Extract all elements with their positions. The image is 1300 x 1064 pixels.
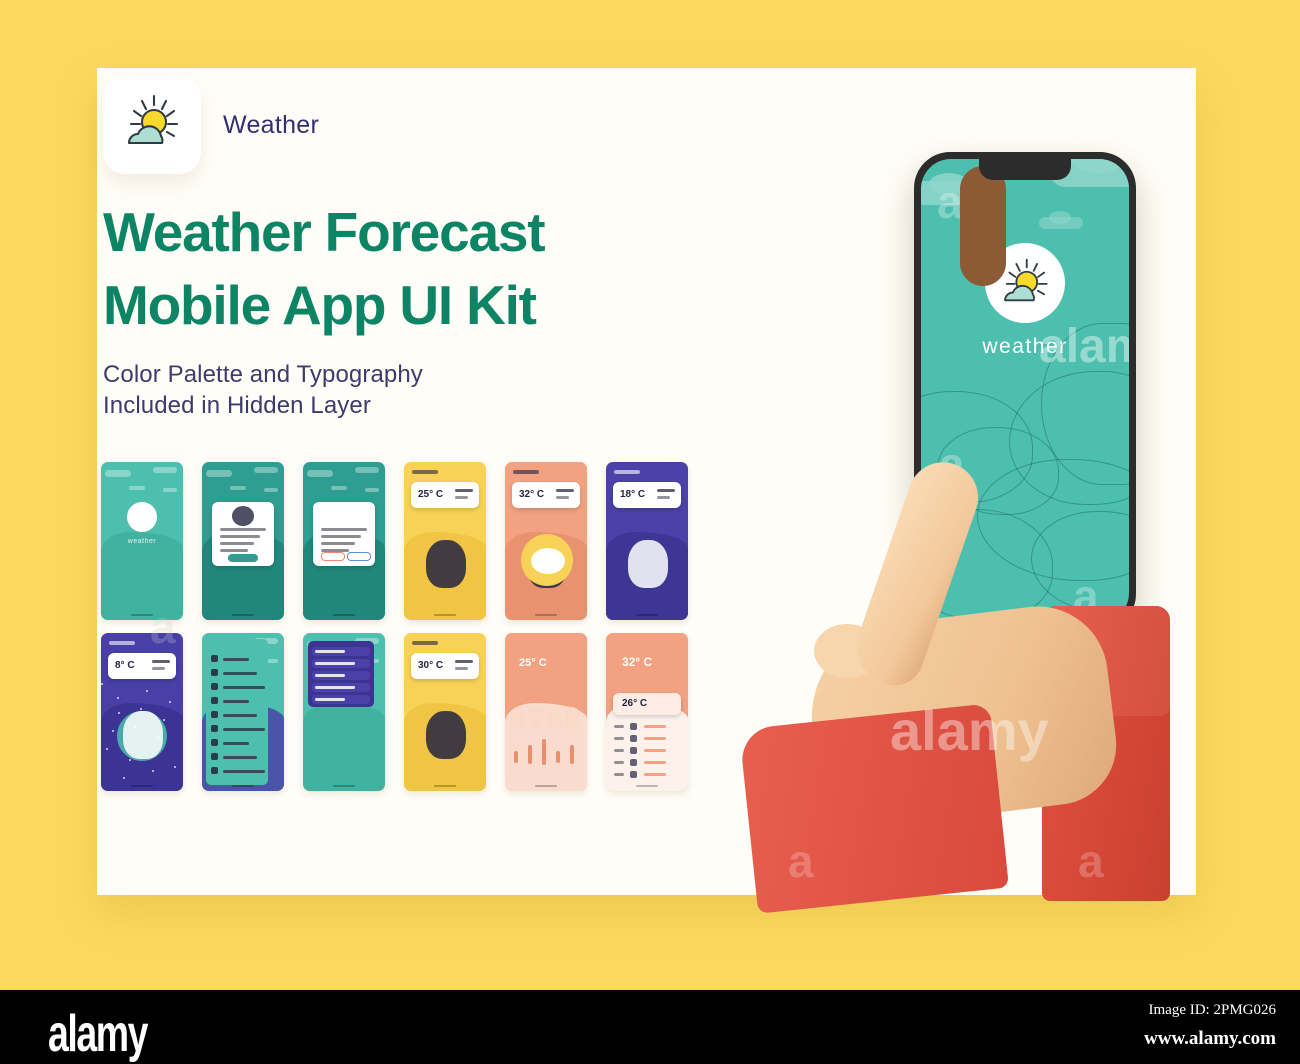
detail-line bbox=[455, 660, 473, 663]
screen-thumbnail-snow-day[interactable]: 8° C bbox=[101, 633, 183, 791]
phone-hand-mockup: weather a a alamy a ala bbox=[742, 128, 1202, 898]
list-label bbox=[223, 672, 257, 675]
day-temp-bar bbox=[644, 761, 666, 764]
home-indicator bbox=[131, 614, 153, 616]
temperature-value: 32° C bbox=[519, 489, 544, 500]
temperature-card: 18° C bbox=[613, 482, 681, 508]
day-weather-icon bbox=[630, 759, 637, 766]
screen-header bbox=[513, 470, 539, 474]
home-indicator bbox=[535, 785, 557, 787]
home-indicator bbox=[434, 785, 456, 787]
snowflake bbox=[129, 759, 131, 761]
back-finger bbox=[960, 166, 1006, 286]
list-icon bbox=[211, 753, 218, 760]
home-indicator bbox=[333, 785, 355, 787]
screen-thumbnail-search-city[interactable] bbox=[303, 633, 385, 791]
screen-thumbnail-rainy-night[interactable]: 18° C bbox=[606, 462, 688, 620]
cloud-decoration bbox=[307, 470, 333, 477]
day-weather-icon bbox=[630, 723, 637, 730]
hourly-cell bbox=[529, 707, 543, 729]
onboarding-card bbox=[212, 502, 274, 566]
day-weather-icon bbox=[630, 771, 637, 778]
day-temp-bar bbox=[644, 773, 666, 776]
cloud-decoration bbox=[105, 470, 131, 477]
detail-line bbox=[455, 489, 473, 492]
animal-illustration-rabbit bbox=[426, 540, 466, 588]
headline-line-2: Mobile App UI Kit bbox=[103, 269, 743, 342]
detail-line bbox=[455, 496, 468, 499]
snowflake bbox=[106, 748, 108, 750]
search-result-label bbox=[315, 650, 345, 653]
cloud-decoration bbox=[365, 488, 379, 492]
temperature-card: 25° C bbox=[411, 482, 479, 508]
page-subtitle: Color Palette and Typography Included in… bbox=[103, 360, 623, 422]
snowflake bbox=[101, 683, 103, 685]
search-result-label bbox=[315, 674, 345, 677]
app-logo-tile bbox=[103, 76, 201, 174]
chart-bar bbox=[528, 745, 532, 764]
splash-logo-circle bbox=[127, 502, 157, 532]
detail-line bbox=[556, 496, 569, 499]
onboarding-card bbox=[313, 502, 375, 566]
day-label bbox=[614, 773, 624, 776]
day-temp-bar bbox=[644, 749, 666, 752]
screen-header bbox=[412, 470, 438, 474]
temperature-value: 18° C bbox=[620, 489, 645, 500]
list-icon bbox=[211, 669, 218, 676]
snowflake bbox=[163, 719, 165, 721]
text-line bbox=[220, 528, 266, 531]
list-icon bbox=[211, 711, 218, 718]
list-icon bbox=[211, 767, 218, 774]
screen-header bbox=[614, 470, 640, 474]
sun-behind-cloud-icon bbox=[119, 93, 185, 158]
home-indicator bbox=[535, 614, 557, 616]
stock-watermark-footer: alamy Image ID: 2PMG026 www.alamy.com bbox=[0, 990, 1300, 1064]
screen-thumbnail-splash[interactable]: weather bbox=[101, 462, 183, 620]
text-line bbox=[321, 535, 361, 538]
screen-thumbnail-details[interactable]: 25° C bbox=[505, 633, 587, 791]
home-indicator bbox=[333, 614, 355, 616]
chart-bar bbox=[514, 751, 518, 763]
day-label bbox=[614, 737, 624, 740]
cloud-decoration bbox=[206, 470, 232, 477]
temperature-value: 32° C bbox=[622, 655, 652, 669]
snowflake bbox=[174, 766, 176, 768]
snowflake bbox=[140, 708, 142, 710]
hourly-cell bbox=[565, 707, 579, 729]
text-line bbox=[220, 549, 248, 552]
page-title: Weather Forecast Mobile App UI Kit bbox=[103, 196, 743, 341]
details-hero: 25° C bbox=[505, 633, 587, 691]
day-temp-bar bbox=[644, 725, 666, 728]
primary-button[interactable] bbox=[228, 554, 258, 562]
primary-button[interactable] bbox=[347, 552, 371, 561]
sleeve-upper bbox=[739, 703, 1009, 913]
temperature-value: 30° C bbox=[418, 660, 443, 671]
weekly-hero: 32° C bbox=[606, 633, 688, 685]
home-indicator bbox=[131, 785, 153, 787]
chart-bar bbox=[556, 751, 560, 763]
animal-illustration-bird bbox=[628, 540, 668, 588]
day-weather-icon bbox=[630, 747, 637, 754]
current-temp-card: 26° C bbox=[613, 693, 681, 715]
hand-illustration: alamy a a bbox=[742, 466, 1202, 898]
list-label bbox=[223, 658, 249, 661]
list-icon bbox=[211, 683, 218, 690]
detail-line bbox=[152, 660, 170, 663]
cloud-decoration bbox=[355, 467, 379, 473]
brand-lockup: Weather bbox=[103, 76, 319, 174]
screen-thumbnail-sunny-day[interactable]: 25° C bbox=[404, 462, 486, 620]
cloud-decoration bbox=[264, 488, 278, 492]
snowflake bbox=[118, 712, 120, 714]
settings-panel bbox=[206, 639, 268, 785]
animal-illustration-polar-bear bbox=[123, 711, 163, 759]
snowflake bbox=[117, 697, 119, 699]
home-indicator bbox=[636, 614, 658, 616]
splash-wordmark: weather bbox=[101, 538, 183, 545]
temperature-value: 25° C bbox=[418, 489, 443, 500]
temperature-value: 8° C bbox=[115, 660, 135, 671]
image-id-label: Image ID: 2PMG026 bbox=[1149, 1002, 1277, 1019]
cloud-decoration bbox=[129, 486, 145, 490]
home-indicator bbox=[232, 614, 254, 616]
headline-line-1: Weather Forecast bbox=[103, 196, 743, 269]
text-line bbox=[321, 542, 355, 545]
snowflake bbox=[152, 770, 154, 772]
list-icon bbox=[211, 655, 218, 662]
snowflake bbox=[134, 726, 136, 728]
screen-thumbnail-weekly[interactable]: 32° C26° C bbox=[606, 633, 688, 791]
snowflake bbox=[157, 737, 159, 739]
list-icon bbox=[211, 697, 218, 704]
day-weather-icon bbox=[630, 735, 637, 742]
search-result-label bbox=[315, 698, 345, 701]
snowflake bbox=[112, 730, 114, 732]
list-label bbox=[223, 714, 257, 717]
illustration bbox=[232, 506, 254, 526]
list-icon bbox=[211, 725, 218, 732]
subheading-line-1: Color Palette and Typography bbox=[103, 360, 623, 391]
screen-thumbnail-settings[interactable] bbox=[202, 633, 284, 791]
chart-bar bbox=[542, 739, 546, 765]
text-line bbox=[220, 542, 254, 545]
screen-thumbnail-grid: weather25° C32° C18° C8° C30° C25° C32° … bbox=[101, 462, 688, 798]
screen-ground bbox=[303, 703, 385, 791]
detail-line bbox=[152, 667, 165, 670]
phone-notch bbox=[979, 159, 1071, 180]
alamy-logo: alamy bbox=[48, 1004, 147, 1064]
list-label bbox=[223, 756, 257, 759]
screen-thumbnail-onboarding-1[interactable] bbox=[202, 462, 284, 620]
cloud-decoration bbox=[153, 467, 177, 473]
text-line bbox=[321, 528, 367, 531]
lion-face bbox=[531, 548, 565, 574]
screen-header bbox=[412, 641, 438, 645]
list-label bbox=[223, 728, 265, 731]
detail-line bbox=[556, 489, 574, 492]
text-line bbox=[220, 535, 260, 538]
list-label bbox=[223, 770, 265, 773]
day-label bbox=[614, 749, 624, 752]
home-indicator bbox=[636, 785, 658, 787]
subheading-line-2: Included in Hidden Layer bbox=[103, 391, 623, 422]
hourly-cell bbox=[511, 707, 525, 729]
temperature-secondary: 26° C bbox=[622, 698, 647, 709]
screen-header bbox=[109, 641, 135, 645]
brand-name: Weather bbox=[223, 111, 319, 140]
chart-bar bbox=[570, 745, 574, 764]
cloud-decoration bbox=[254, 467, 278, 473]
temperature-card: 32° C bbox=[512, 482, 580, 508]
detail-line bbox=[657, 489, 675, 492]
list-label bbox=[223, 686, 265, 689]
home-indicator bbox=[232, 785, 254, 787]
snowflake bbox=[135, 741, 137, 743]
secondary-button[interactable] bbox=[321, 552, 345, 561]
list-icon bbox=[211, 739, 218, 746]
snowflake bbox=[169, 701, 171, 703]
snowflake bbox=[146, 690, 148, 692]
temperature-value: 25° C bbox=[519, 657, 547, 669]
search-result-label bbox=[315, 662, 355, 665]
cloud-decoration bbox=[230, 486, 246, 490]
list-label bbox=[223, 700, 249, 703]
screen-thumbnail-hot-day[interactable]: 32° C bbox=[505, 462, 587, 620]
screen-thumbnail-alert-screen[interactable]: 30° C bbox=[404, 633, 486, 791]
temperature-card: 8° C bbox=[108, 653, 176, 679]
cloud-decoration bbox=[163, 488, 177, 492]
animal-illustration-deer bbox=[426, 711, 466, 759]
poster-stage: Weather Weather Forecast Mobile App UI K… bbox=[0, 0, 1300, 990]
day-temp-bar bbox=[644, 737, 666, 740]
screen-thumbnail-onboarding-2[interactable] bbox=[303, 462, 385, 620]
day-label bbox=[614, 761, 624, 764]
detail-line bbox=[657, 496, 670, 499]
snowflake bbox=[123, 777, 125, 779]
list-label bbox=[223, 742, 249, 745]
detail-line bbox=[455, 667, 468, 670]
temperature-card: 30° C bbox=[411, 653, 479, 679]
alamy-url-label: www.alamy.com bbox=[1144, 1028, 1276, 1050]
home-indicator bbox=[434, 614, 456, 616]
search-result-label bbox=[315, 686, 355, 689]
day-label bbox=[614, 725, 624, 728]
screen-ground bbox=[606, 703, 688, 791]
hourly-cell bbox=[547, 707, 561, 729]
search-panel bbox=[308, 641, 374, 707]
cloud-decoration bbox=[331, 486, 347, 490]
